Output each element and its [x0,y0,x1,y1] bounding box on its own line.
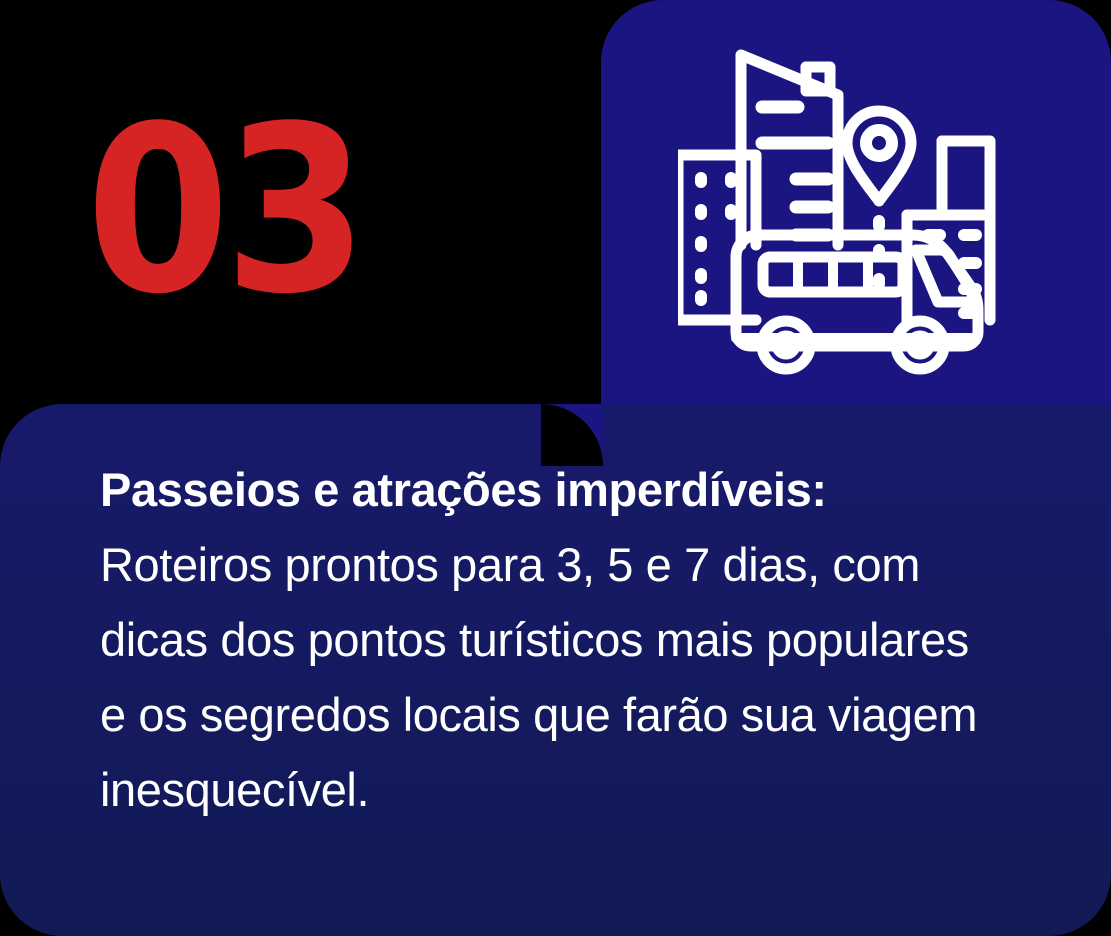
card-description: Passeios e atrações imperdíveis: Roteiro… [100,452,1000,827]
city-tour-bus-icon [678,45,1008,375]
card-description-lead: Passeios e atrações imperdíveis [100,463,811,516]
card-description-rest: Roteiros prontos para 3, 5 e 7 dias, com… [100,538,977,816]
feature-card: 03 [0,0,1111,936]
step-number: 03 [86,92,466,332]
card-description-colon: : [811,463,826,516]
